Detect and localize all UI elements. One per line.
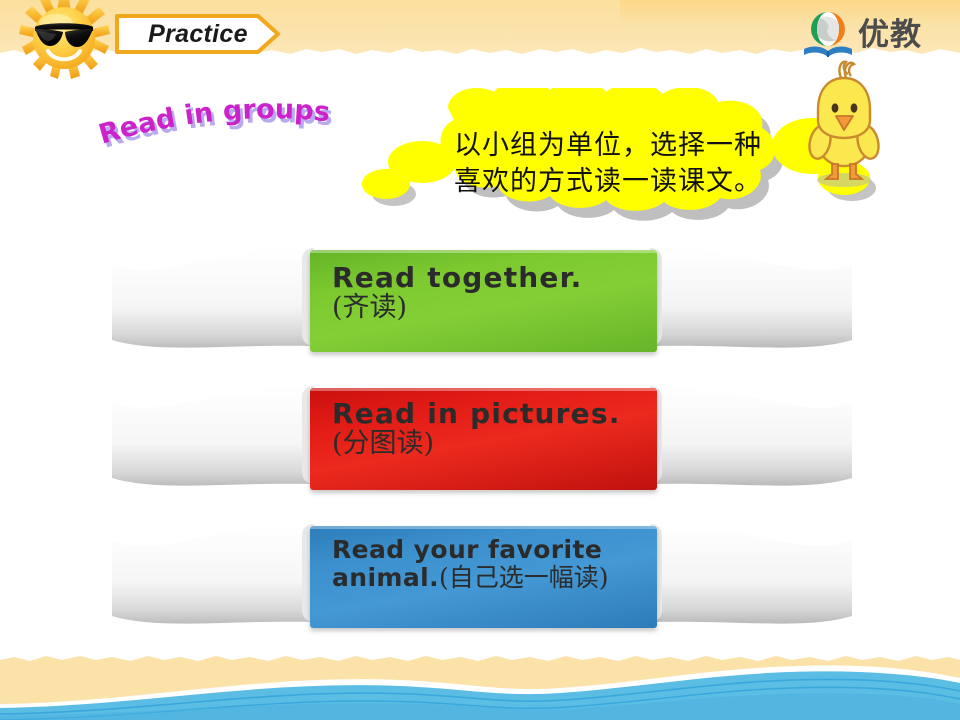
callout-line-2: 喜欢的方式读一读课文。	[418, 164, 798, 200]
practice-badge-label: Practice	[138, 18, 258, 50]
logo-text: 优教	[858, 19, 922, 50]
option-ribbon-read-in-pictures[interactable]: Read in pictures. (分图读)	[110, 380, 854, 500]
option-chinese-label: (自己选一幅读)	[439, 563, 609, 592]
section-heading-wordart: Read in groups Read in groups	[96, 100, 356, 152]
ribbon-label-read-your-favorite-animal: Read your favorite animal.(自己选一幅读)	[332, 536, 662, 592]
swirl-over-open-book-icon	[800, 8, 856, 60]
option-chinese-label: (齐读)	[332, 293, 662, 323]
callout-line-1: 以小组为单位，选择一种	[418, 128, 798, 164]
option-english-label: Read in pictures.	[332, 398, 662, 429]
brand-logo: 优教	[800, 6, 934, 62]
option-english-label: Read your favorite	[332, 536, 662, 564]
ribbon-label-read-in-pictures: Read in pictures. (分图读)	[332, 398, 662, 460]
option-ribbon-read-your-favorite-animal[interactable]: Read your favorite animal.(自己选一幅读)	[110, 518, 854, 638]
bottom-wave-decoration	[0, 644, 960, 720]
yellow-chick-icon	[798, 58, 890, 190]
ribbon-label-read-together: Read together. (齐读)	[332, 262, 662, 324]
option-ribbon-read-together[interactable]: Read together. (齐读)	[110, 242, 854, 362]
callout-text: 以小组为单位，选择一种 喜欢的方式读一读课文。	[418, 128, 798, 199]
slide-canvas: Practice 优教 Read in groups Read in group…	[0, 0, 960, 720]
sun-with-sunglasses-icon	[8, 0, 126, 90]
option-chinese-label: (分图读)	[332, 429, 662, 459]
option-english-label-2: animal.	[332, 563, 439, 592]
option-english-label: Read together.	[332, 262, 662, 293]
